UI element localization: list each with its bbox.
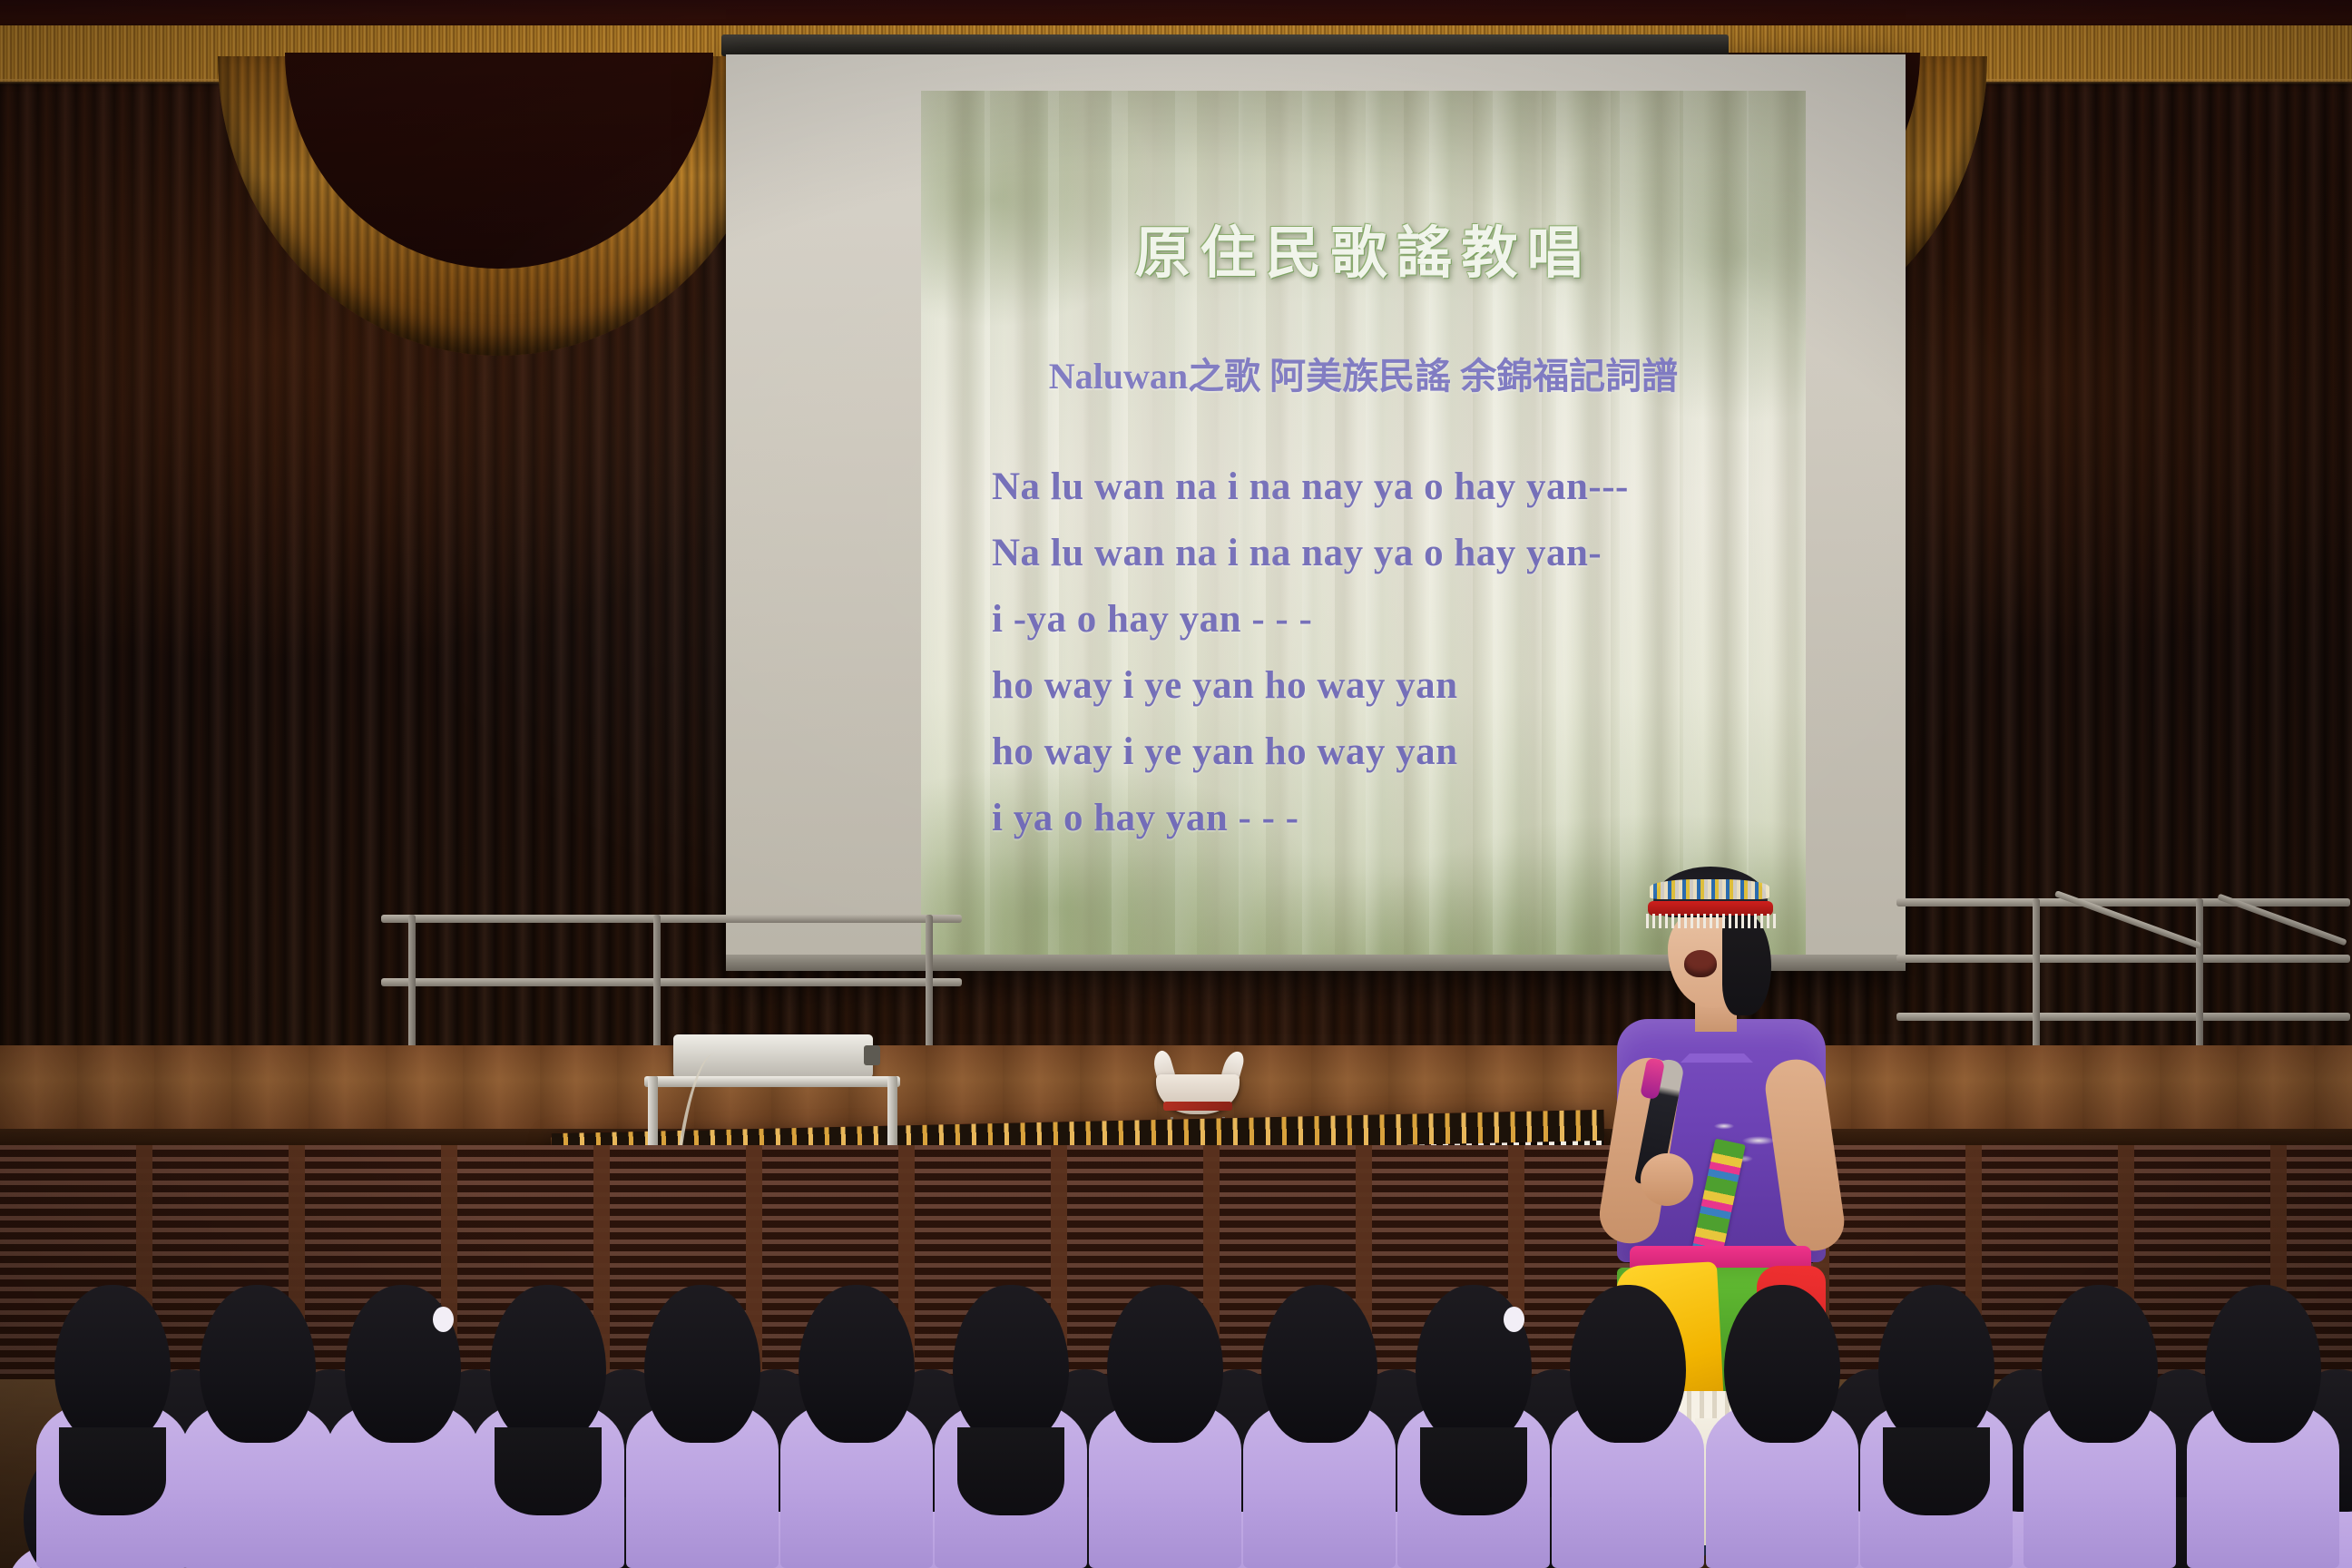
lyric-line: ho way i ye yan ho way yan bbox=[992, 652, 1769, 719]
student-head bbox=[2042, 1285, 2158, 1443]
student-head bbox=[1416, 1285, 1532, 1443]
projected-slide: 原住民歌謠教唱 Naluwan之歌 阿美族民謠 余錦福記詞譜 Na lu wan… bbox=[921, 91, 1806, 971]
student-head bbox=[200, 1285, 316, 1443]
performer-hair bbox=[1722, 914, 1771, 1015]
student-silhouette bbox=[1397, 1296, 1550, 1568]
student-head bbox=[490, 1285, 606, 1443]
student-silhouette bbox=[1706, 1296, 1858, 1568]
slide-subtitle: Naluwan之歌 阿美族民謠 余錦福記詞譜 bbox=[921, 347, 1806, 399]
student-silhouette bbox=[1243, 1296, 1396, 1568]
student-silhouette bbox=[626, 1296, 779, 1568]
lyric-line: Na lu wan na i na nay ya o hay yan- bbox=[992, 520, 1769, 586]
seated-students bbox=[0, 1259, 2352, 1568]
hair-clip bbox=[1504, 1307, 1524, 1332]
student-silhouette bbox=[2024, 1296, 2176, 1568]
hair-clip bbox=[433, 1307, 454, 1332]
curtain-swag-left bbox=[218, 56, 780, 356]
performer-hand-holding-mic bbox=[1641, 1153, 1693, 1206]
lyric-line: i -ya o hay yan - - - bbox=[992, 586, 1769, 652]
student-silhouette bbox=[472, 1296, 624, 1568]
student-head bbox=[54, 1285, 171, 1443]
student-head bbox=[1570, 1285, 1686, 1443]
auditorium-scene: 原住民歌謠教唱 Naluwan之歌 阿美族民謠 余錦福記詞譜 Na lu wan… bbox=[0, 0, 2352, 1568]
student-head bbox=[1724, 1285, 1840, 1443]
screen-roller-housing bbox=[721, 34, 1729, 56]
student-silhouette bbox=[181, 1296, 334, 1568]
student-head bbox=[644, 1285, 760, 1443]
student-head bbox=[953, 1285, 1069, 1443]
student-head bbox=[799, 1285, 915, 1443]
headdress-beadwork bbox=[1650, 879, 1769, 899]
student-silhouette bbox=[935, 1296, 1087, 1568]
performer-mouth-singing bbox=[1684, 950, 1717, 977]
student-silhouette bbox=[1089, 1296, 1241, 1568]
student-head bbox=[2205, 1285, 2321, 1443]
slide-lyrics-block: Na lu wan na i na nay ya o hay yan---Na … bbox=[992, 454, 1769, 851]
student-silhouette bbox=[780, 1296, 933, 1568]
student-head bbox=[1261, 1285, 1377, 1443]
student-silhouette bbox=[327, 1296, 479, 1568]
student-head bbox=[345, 1285, 461, 1443]
headdress-fringe bbox=[1646, 914, 1777, 928]
student-silhouette bbox=[1860, 1296, 2013, 1568]
lyric-line: ho way i ye yan ho way yan bbox=[992, 719, 1769, 785]
student-silhouette bbox=[36, 1296, 189, 1568]
student-silhouette bbox=[1552, 1296, 1704, 1568]
projection-screen: 原住民歌謠教唱 Naluwan之歌 阿美族民謠 余錦福記詞譜 Na lu wan… bbox=[726, 54, 1906, 971]
tshirt-v-collar bbox=[1681, 1021, 1753, 1063]
student-silhouette bbox=[2187, 1296, 2339, 1568]
cart-shelf-top bbox=[644, 1076, 900, 1087]
lyric-line: i ya o hay yan - - - bbox=[992, 785, 1769, 851]
slide-title: 原住民歌謠教唱 bbox=[921, 207, 1806, 289]
lyric-line: Na lu wan na i na nay ya o hay yan--- bbox=[992, 454, 1769, 520]
student-head bbox=[1878, 1285, 1994, 1443]
student-head bbox=[1107, 1285, 1223, 1443]
